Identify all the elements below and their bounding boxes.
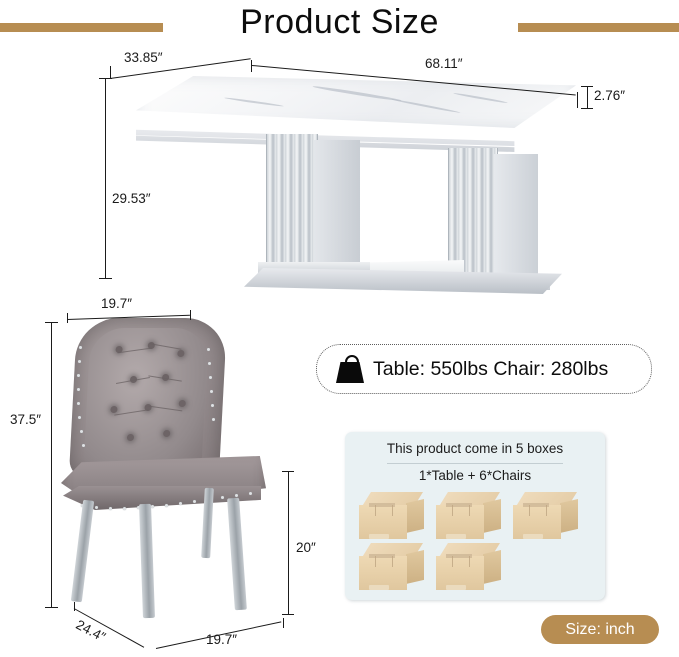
table-thickness-line (587, 86, 588, 108)
weight-text: Table: 550lbs Chair: 280lbs (373, 358, 608, 381)
table-depth-label: 33.85″ (124, 50, 163, 65)
chair-top-width-label: 19.7″ (101, 296, 132, 311)
chair-seat-height-tick-top (282, 471, 294, 472)
table-pedestal-right-side (494, 154, 538, 284)
marble-vein (312, 85, 401, 102)
dining-table-illustration (118, 72, 588, 282)
tuft-seam (150, 343, 181, 350)
table-thickness-tick-bottom (581, 108, 593, 109)
table-pedestal-left-side (314, 140, 360, 270)
tuft-button (127, 434, 134, 441)
chair-depth-tick-start (74, 602, 75, 611)
table-thickness-tick-top (581, 86, 593, 87)
chair-height-tick-bottom (45, 607, 58, 608)
dining-chair-illustration (55, 318, 305, 618)
table-width-tick-right (577, 92, 578, 108)
packaging-panel: This product come in 5 boxes 1*Table + 6… (345, 432, 605, 600)
marble-vein (224, 97, 284, 107)
unit-badge: Size: inch (541, 615, 659, 644)
tuft-button (110, 406, 117, 413)
table-marble-top (136, 76, 576, 128)
chair-leg-back-right (227, 498, 247, 611)
chair-height-line (51, 322, 52, 607)
box-row (357, 543, 593, 591)
chair-leg-front-left (71, 500, 94, 603)
tuft-button (177, 350, 184, 357)
cardboard-box-icon (436, 492, 508, 540)
chair-seat-height-label: 20″ (296, 540, 316, 555)
packaging-divider (387, 463, 563, 464)
tuft-button (179, 400, 186, 407)
tuft-button (163, 430, 170, 437)
tuft-seam (149, 406, 183, 412)
chair-height-label: 37.5″ (10, 412, 41, 427)
chair-top-width-tick-right (190, 310, 191, 320)
cardboard-box-icon (359, 492, 431, 540)
table-height-line (105, 78, 106, 278)
table-width-label: 68.11″ (425, 56, 463, 71)
table-height-tick-bottom (99, 278, 112, 279)
box-row (357, 492, 593, 540)
marble-vein (453, 92, 508, 104)
packaging-subtitle: 1*Table + 6*Chairs (345, 468, 605, 483)
marble-vein (392, 98, 461, 113)
page-title: Product Size (0, 0, 679, 44)
chair-backrest-tufted-panel (83, 328, 208, 470)
chair-depth-label: 24.4″ (73, 617, 107, 645)
weight-icon (333, 354, 367, 384)
packaging-box-grid (357, 492, 593, 594)
cardboard-box-icon (359, 543, 431, 591)
table-thickness-label: 2.76″ (594, 88, 625, 103)
unit-badge-label: Size: inch (565, 621, 634, 639)
table-height-tick-top (99, 78, 112, 79)
packaging-title: This product come in 5 boxes (345, 441, 605, 456)
chair-seat-height-line (288, 471, 289, 614)
tuft-seam (114, 409, 148, 415)
cardboard-box-icon (436, 543, 508, 591)
table-height-label: 29.53″ (112, 191, 151, 206)
chair-top-width-tick-left (67, 313, 68, 323)
chair-leg-front-right (139, 504, 155, 618)
weight-capsule: Table: 550lbs Chair: 280lbs (316, 344, 652, 394)
title-bar: Product Size (0, 0, 679, 48)
table-pedestal-left (266, 134, 318, 266)
cardboard-box-icon (513, 492, 585, 540)
chair-bottom-width-tick-right (283, 618, 284, 628)
chair-seat-height-tick-bottom (282, 614, 294, 615)
chair-height-tick-top (45, 322, 58, 323)
